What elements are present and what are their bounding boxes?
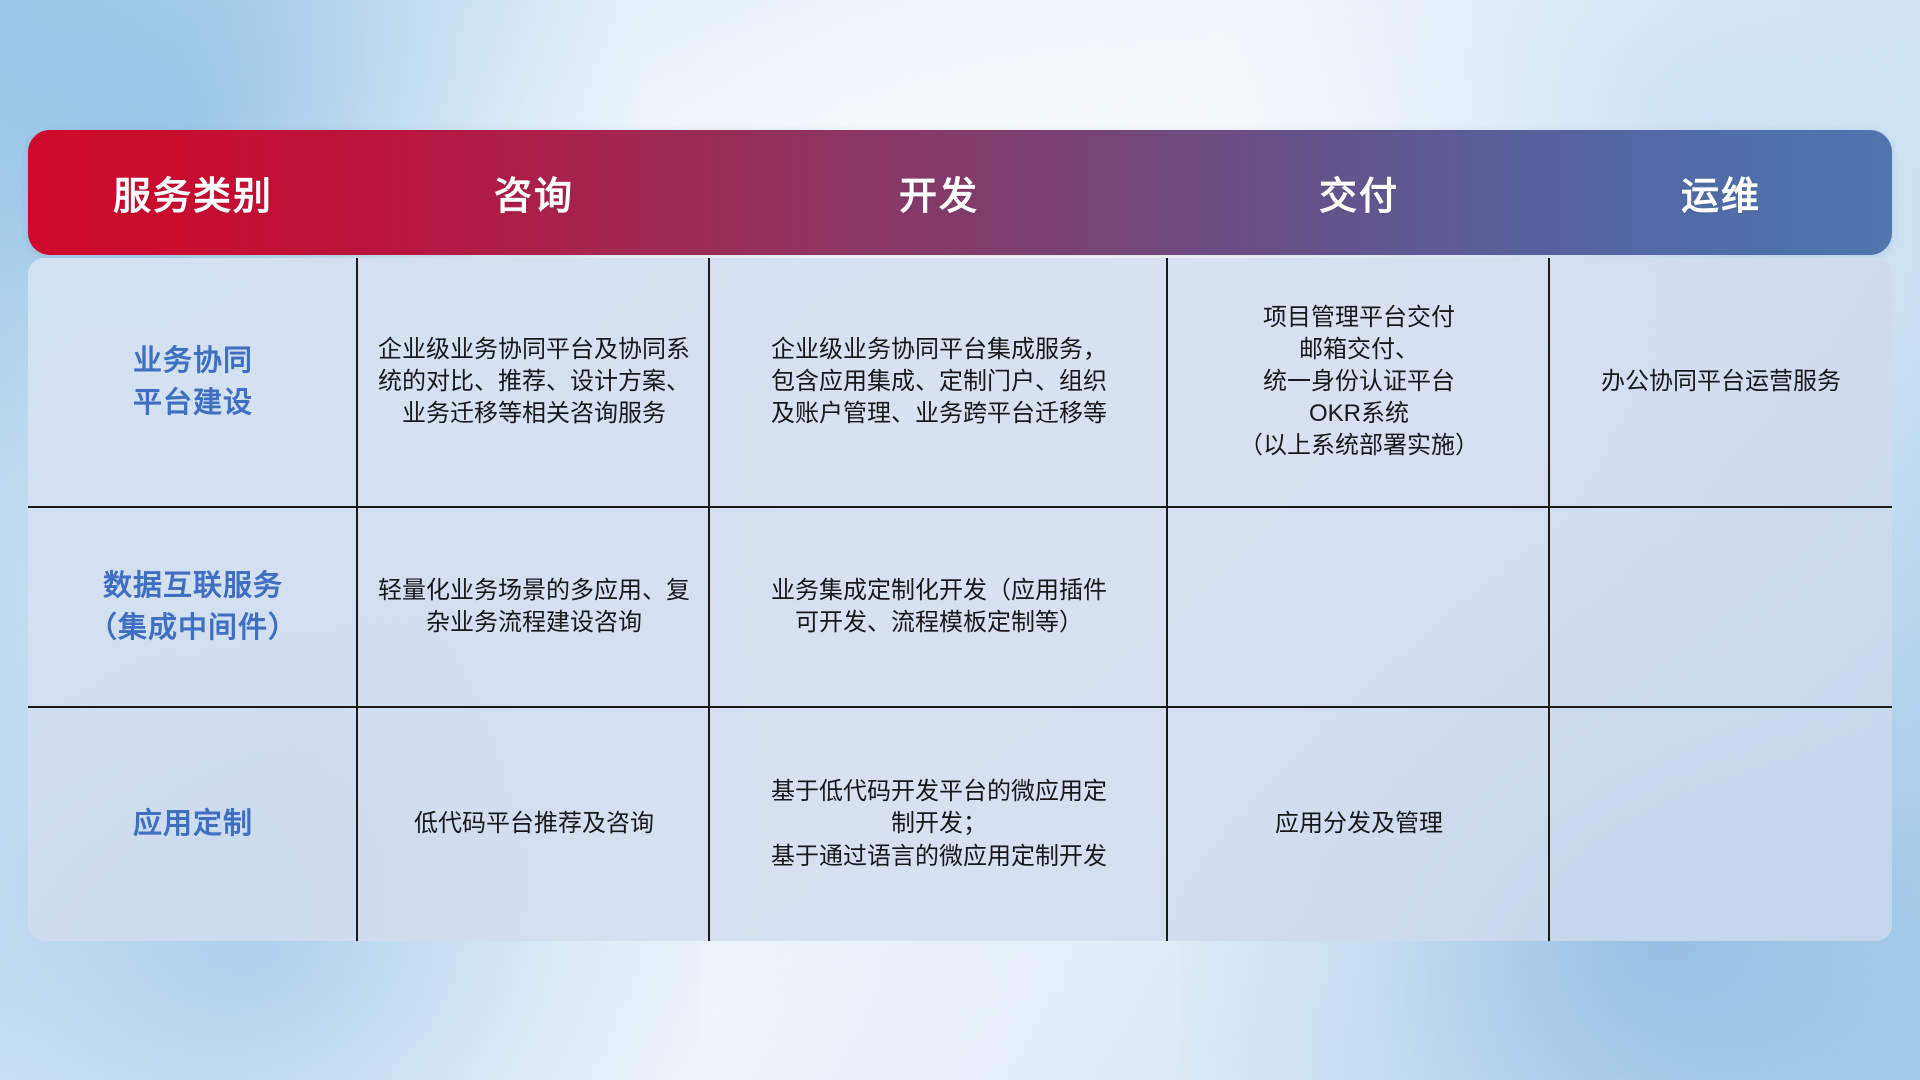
table-header-row: 服务类别咨询开发交付运维 [28,130,1892,255]
cell-development: 业务集成定制化开发（应用插件 可开发、流程模板定制等） [710,508,1168,706]
cell-text: 轻量化业务场景的多应用、复 杂业务流程建设咨询 [378,575,690,639]
row-category-label: 业务协同 平台建设 [28,258,358,506]
cell-text: 基于低代码开发平台的微应用定 制开发； 基于通过语言的微应用定制开发 [771,776,1107,872]
table-row: 业务协同 平台建设企业级业务协同平台及协同系 统的对比、推荐、设计方案、 业务迁… [28,258,1892,506]
cell-operations [1550,708,1892,941]
cell-operations: 办公协同平台运营服务 [1550,258,1892,506]
row-category-label: 数据互联服务 （集成中间件） [28,508,358,706]
table-row: 应用定制低代码平台推荐及咨询基于低代码开发平台的微应用定 制开发； 基于通过语言… [28,706,1892,941]
row-category-label: 应用定制 [28,708,358,941]
cell-text: 企业级业务协同平台集成服务， 包含应用集成、定制门户、组织 及账户管理、业务跨平… [771,334,1107,430]
cell-text: 办公协同平台运营服务 [1601,366,1841,398]
column-header-category[interactable]: 服务类别 [28,165,358,220]
cell-delivery: 项目管理平台交付 邮箱交付、 统一身份认证平台 OKR系统 （以上系统部署实施） [1168,258,1550,506]
cell-consulting: 低代码平台推荐及咨询 [358,708,710,941]
cell-text: 应用定制 [133,803,253,845]
cell-delivery: 应用分发及管理 [1168,708,1550,941]
table-row: 数据互联服务 （集成中间件）轻量化业务场景的多应用、复 杂业务流程建设咨询业务集… [28,506,1892,706]
cell-consulting: 企业级业务协同平台及协同系 统的对比、推荐、设计方案、 业务迁移等相关咨询服务 [358,258,710,506]
column-header-development[interactable]: 开发 [710,165,1168,220]
cell-text: 应用分发及管理 [1275,808,1443,840]
cell-text: 数据互联服务 （集成中间件） [88,565,298,649]
column-header-consulting[interactable]: 咨询 [358,165,710,220]
column-header-operations[interactable]: 运维 [1550,165,1892,220]
cell-text: 项目管理平台交付 邮箱交付、 统一身份认证平台 OKR系统 （以上系统部署实施） [1239,302,1479,463]
cell-text: 低代码平台推荐及咨询 [414,808,654,840]
service-matrix-table: 服务类别咨询开发交付运维 业务协同 平台建设企业级业务协同平台及协同系 统的对比… [28,130,1892,941]
cell-development: 企业级业务协同平台集成服务， 包含应用集成、定制门户、组织 及账户管理、业务跨平… [710,258,1168,506]
cell-development: 基于低代码开发平台的微应用定 制开发； 基于通过语言的微应用定制开发 [710,708,1168,941]
cell-text: 业务集成定制化开发（应用插件 可开发、流程模板定制等） [771,575,1107,639]
table-body: 业务协同 平台建设企业级业务协同平台及协同系 统的对比、推荐、设计方案、 业务迁… [28,258,1892,941]
cell-text: 企业级业务协同平台及协同系 统的对比、推荐、设计方案、 业务迁移等相关咨询服务 [378,334,690,430]
cell-delivery [1168,508,1550,706]
cell-text: 业务协同 平台建设 [133,340,253,424]
cell-operations [1550,508,1892,706]
column-header-delivery[interactable]: 交付 [1168,165,1550,220]
cell-consulting: 轻量化业务场景的多应用、复 杂业务流程建设咨询 [358,508,710,706]
